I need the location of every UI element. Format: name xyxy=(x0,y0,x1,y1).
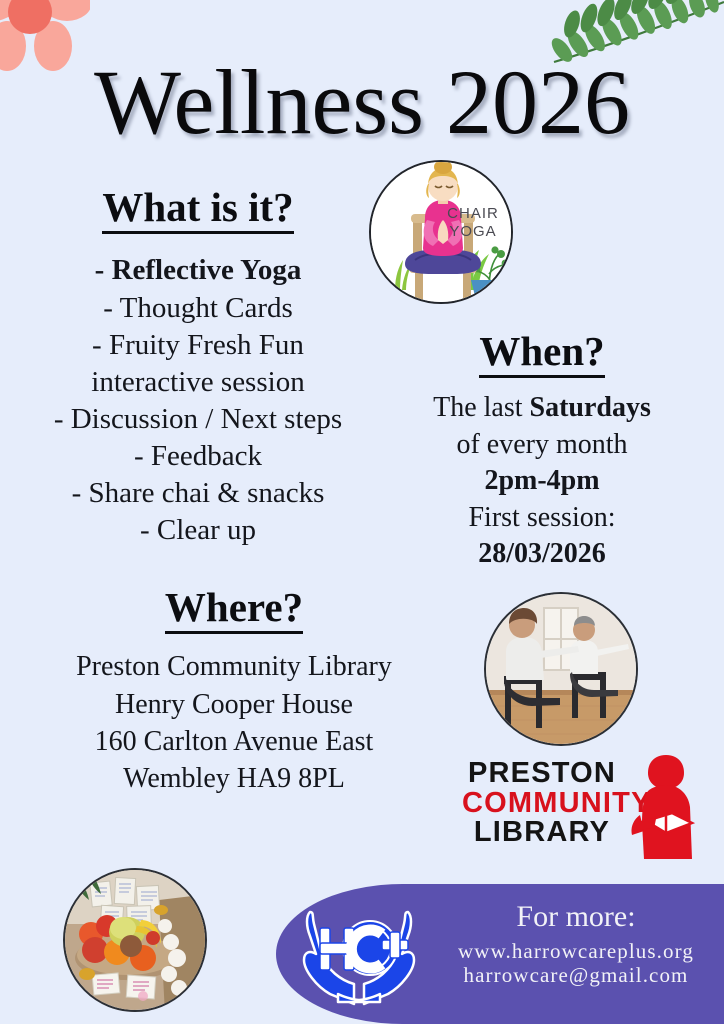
email-link[interactable]: harrowcare@gmail.com xyxy=(426,963,724,988)
where-heading: Where? xyxy=(165,586,303,634)
what-is-it-heading: What is it? xyxy=(102,186,293,234)
address-line: 160 Carlton Avenue East xyxy=(14,723,454,760)
list-item: - Reflective Yoga xyxy=(8,252,388,289)
svg-text:CHAIR: CHAIR xyxy=(447,205,499,222)
fruit-bowl-illustration-icon xyxy=(65,870,207,1012)
list-item: - Discussion / Next steps xyxy=(8,401,388,438)
preston-community-library-logo: PRESTON COMMUNITY LIBRARY xyxy=(462,757,702,865)
when-line-1: The last Saturdays xyxy=(360,390,724,426)
for-more-label: For more: xyxy=(426,900,724,935)
library-logo-line-3: LIBRARY xyxy=(462,818,622,848)
when-line-2: of every month xyxy=(360,427,724,463)
contact-banner: For more: www.harrowcareplus.org harrowc… xyxy=(276,884,724,1024)
chair-yoga-logo: CHAIR YOGA xyxy=(369,160,513,304)
chair-exercise-illustration-icon xyxy=(486,594,638,746)
list-item: - Clear up xyxy=(8,512,388,549)
svg-text:YOGA: YOGA xyxy=(449,223,496,240)
chair-exercise-photo xyxy=(484,592,638,746)
harrow-care-plus-logo-icon xyxy=(296,898,422,1010)
address-line: Preston Community Library xyxy=(14,648,454,685)
when-line-4: First session: xyxy=(360,500,724,536)
address-line: Henry Cooper House xyxy=(14,686,454,723)
when-line-3: 2pm-4pm xyxy=(360,463,724,499)
list-item: interactive session xyxy=(8,364,388,401)
where-section: Where? Preston Community Library Henry C… xyxy=(14,586,454,797)
list-item: - Thought Cards xyxy=(8,290,388,327)
address-line: Wembley HA9 8PL xyxy=(14,760,454,797)
when-details: The last Saturdays of every month 2pm-4p… xyxy=(360,390,724,572)
when-line-1-prefix: The last xyxy=(433,392,529,423)
title-word-main: Wellness xyxy=(94,51,424,153)
page-title: Wellness2026 xyxy=(0,56,724,148)
when-line-5: 28/03/2026 xyxy=(360,536,724,572)
library-logo-wordmark: PRESTON COMMUNITY LIBRARY xyxy=(462,759,622,848)
what-is-it-list: - Reflective Yoga - Thought Cards - Frui… xyxy=(8,252,388,549)
fruit-bowl-photo xyxy=(63,868,207,1012)
reader-figure-icon xyxy=(618,753,704,865)
list-item: - Fruity Fresh Fun xyxy=(8,327,388,364)
when-section: When? The last Saturdays of every month … xyxy=(360,330,724,572)
contact-text-block: For more: www.harrowcareplus.org harrowc… xyxy=(426,900,724,988)
chair-yoga-illustration-icon: CHAIR YOGA xyxy=(371,162,513,304)
library-logo-line-2: COMMUNITY xyxy=(462,789,622,819)
when-heading: When? xyxy=(479,330,604,378)
poster-canvas: Wellness2026 What is it? - Reflective Yo… xyxy=(0,0,724,1024)
list-item: - Share chai & snacks xyxy=(8,475,388,512)
where-address: Preston Community Library Henry Cooper H… xyxy=(14,648,454,797)
website-link[interactable]: www.harrowcareplus.org xyxy=(426,939,724,964)
what-is-it-section: What is it? - Reflective Yoga - Thought … xyxy=(8,186,388,549)
title-word-year: 2026 xyxy=(446,51,630,153)
list-item: - Feedback xyxy=(8,438,388,475)
library-logo-line-1: PRESTON xyxy=(462,759,622,789)
when-line-1-bold: Saturdays xyxy=(530,392,651,423)
